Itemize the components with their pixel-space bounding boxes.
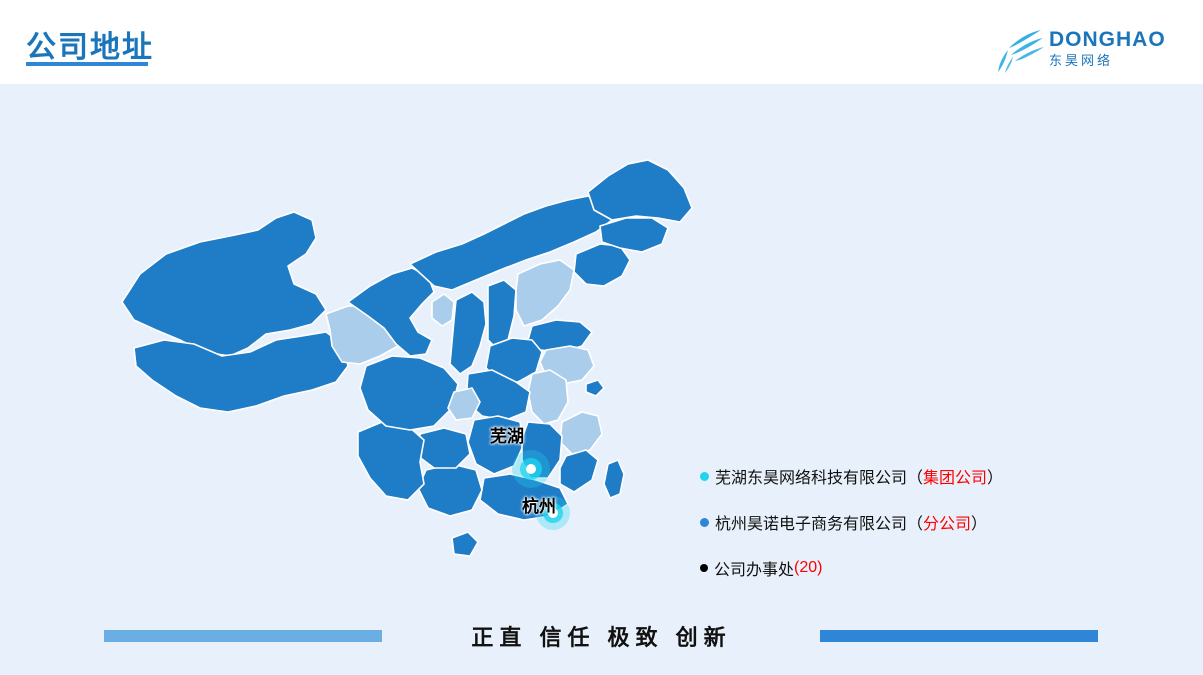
legend-dot-icon-cyan bbox=[700, 472, 709, 481]
marker-pulse-wuhu-core bbox=[526, 464, 536, 474]
province-shaanxi bbox=[450, 292, 486, 374]
province-anhui bbox=[528, 370, 568, 424]
province-fujian bbox=[560, 450, 598, 492]
province-shanghai bbox=[586, 380, 604, 396]
province-liaoning bbox=[574, 244, 630, 286]
legend-highlight-3: (20) bbox=[794, 559, 822, 577]
china-map: 芜湖 杭州 bbox=[80, 134, 720, 604]
legend-tail-2: ） bbox=[971, 510, 987, 534]
legend: 芜湖东昊网络科技有限公司（ 集团公司 ） 杭州昊诺电子商务有限公司（ 分公司 ）… bbox=[700, 464, 1100, 602]
feather-fan-icon bbox=[995, 26, 1047, 74]
legend-text-2: 杭州昊诺电子商务有限公司（ bbox=[715, 510, 923, 534]
province-yunnan bbox=[358, 422, 424, 500]
province-taiwan bbox=[604, 460, 624, 498]
legend-highlight-1: 集团公司 bbox=[923, 464, 987, 488]
title-underline bbox=[26, 62, 148, 66]
province-sichuan bbox=[360, 356, 458, 430]
province-ningxia bbox=[432, 294, 454, 326]
page-title: 公司地址 bbox=[26, 22, 154, 66]
legend-highlight-2: 分公司 bbox=[923, 510, 971, 534]
slide-body: 芜湖 杭州 芜湖东昊网络科技有限公司（ 集团公司 ） 杭州昊诺电子商务有限公司（… bbox=[0, 84, 1203, 675]
province-guizhou bbox=[418, 428, 470, 468]
province-heilongjiang bbox=[588, 160, 692, 222]
legend-text-3: 公司办事处 bbox=[714, 556, 794, 580]
marker-label-wuhu: 芜湖 bbox=[490, 422, 524, 447]
legend-item-group-company: 芜湖东昊网络科技有限公司（ 集团公司 ） bbox=[700, 464, 1100, 488]
legend-dot-icon-black bbox=[700, 564, 708, 572]
page-header: 公司地址 DONGHAO 东昊网络 bbox=[0, 0, 1203, 84]
china-map-svg bbox=[80, 134, 720, 604]
province-hebei bbox=[516, 260, 574, 326]
legend-item-offices: 公司办事处 (20) bbox=[700, 556, 1100, 580]
logo-en-text: DONGHAO bbox=[1049, 28, 1159, 52]
legend-item-branch-company: 杭州昊诺电子商务有限公司（ 分公司 ） bbox=[700, 510, 1100, 534]
logo-text-block: DONGHAO 东昊网络 bbox=[1049, 28, 1159, 70]
province-zhejiang bbox=[560, 412, 602, 454]
legend-tail-1: ） bbox=[987, 464, 1003, 488]
logo-cn-text: 东昊网络 bbox=[1049, 52, 1159, 70]
province-guangxi bbox=[418, 464, 482, 516]
footer-slogan: 正直 信任 极致 创新 bbox=[0, 620, 1203, 652]
legend-text-1: 芜湖东昊网络科技有限公司（ bbox=[715, 464, 923, 488]
company-logo: DONGHAO 东昊网络 bbox=[1011, 12, 1181, 70]
province-hainan bbox=[452, 532, 478, 556]
marker-label-hangzhou: 杭州 bbox=[522, 492, 556, 517]
legend-dot-icon-blue bbox=[700, 518, 709, 527]
province-xinjiang bbox=[122, 212, 326, 356]
